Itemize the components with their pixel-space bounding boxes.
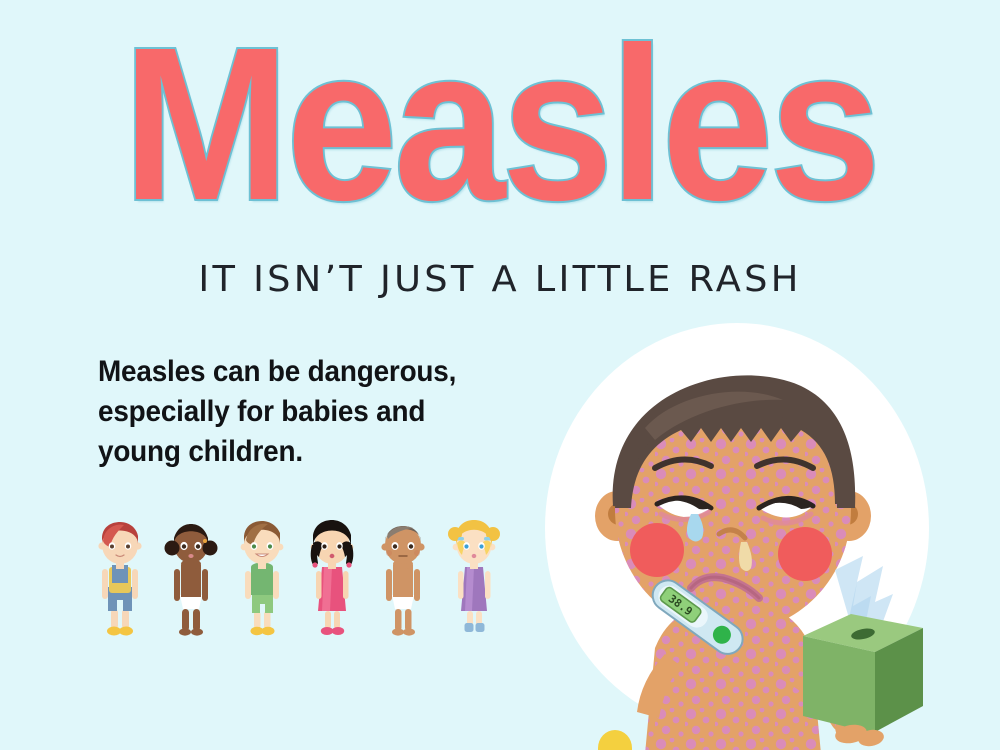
child-figure-1 — [92, 517, 148, 637]
child-figure-2 — [163, 517, 219, 637]
page-title: Measles — [40, 16, 960, 234]
sick-child-illustration: 38.9 — [505, 318, 1000, 750]
child-head — [613, 375, 856, 632]
child-figure-5 — [375, 517, 431, 637]
child-figure-3 — [234, 517, 290, 637]
body-paragraph: Measles can be dangerous, especially for… — [98, 352, 470, 472]
child-figure-6 — [446, 517, 502, 637]
page-subtitle: IT ISN’T JUST A LITTLE RASH — [0, 260, 1000, 300]
child-left-eye — [657, 498, 711, 520]
children-illustration-row — [92, 512, 502, 637]
left-cheek-flush — [630, 523, 684, 577]
measles-infographic-poster: Measles IT ISN’T JUST A LITTLE RASH Meas… — [0, 0, 1000, 750]
child-figure-4 — [304, 517, 360, 637]
right-cheek-flush — [778, 527, 832, 581]
